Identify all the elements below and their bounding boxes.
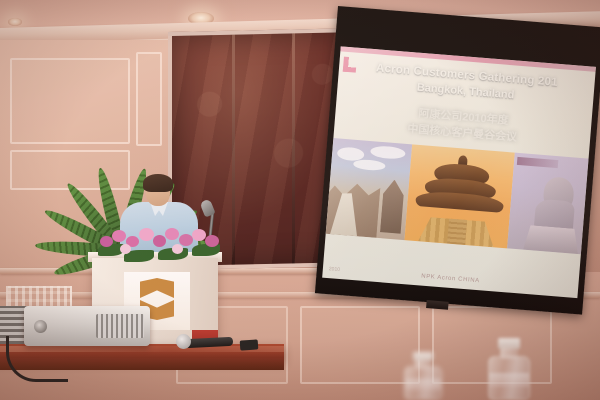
orchid-blossom xyxy=(139,228,154,241)
great-wall-photo xyxy=(326,138,413,240)
slide-photo-strip xyxy=(326,138,589,254)
projector-lens-icon xyxy=(34,320,47,333)
microphone-head-icon xyxy=(176,334,191,349)
orchid-blossom xyxy=(179,234,193,246)
recessed-ceiling-light-secondary xyxy=(8,18,22,26)
water-bottle xyxy=(488,338,530,400)
speaker-hair xyxy=(143,174,173,192)
bottle-body xyxy=(488,356,530,400)
wood-panel-seam xyxy=(232,35,235,265)
photo-caption-badge xyxy=(517,157,559,168)
screen-mount-bracket xyxy=(426,300,449,310)
orchid-blossom xyxy=(172,244,183,254)
watchtower-shape xyxy=(380,179,405,234)
cloud-shape xyxy=(370,145,406,160)
orchid-blossom xyxy=(192,229,206,241)
bottle-body xyxy=(404,366,442,400)
orchid-blossom xyxy=(100,236,113,247)
orchid-blossom xyxy=(112,230,126,242)
temple-stairs-shape xyxy=(447,219,467,245)
wood-panel-seam xyxy=(292,33,295,263)
orchid-blossom xyxy=(205,235,219,247)
projection-screen: Acron Customers Gathering 201 Bangkok, T… xyxy=(314,6,600,323)
floral-arrangement xyxy=(96,226,224,266)
stone-lion-photo xyxy=(507,153,589,255)
shield-logo-icon-top xyxy=(140,278,174,298)
projector-vent xyxy=(96,314,144,338)
cloud-shape xyxy=(353,159,385,171)
bottle-label xyxy=(489,373,529,387)
orchid-blossom xyxy=(165,228,179,240)
bottle-label xyxy=(405,379,441,390)
wall-panel-lower-right xyxy=(300,306,420,384)
orchid-blossom xyxy=(153,235,166,247)
presentation-slide: Acron Customers Gathering 201 Bangkok, T… xyxy=(322,46,596,298)
conference-room-photo: Acron Customers Gathering 201 Bangkok, T… xyxy=(0,0,600,400)
temple-of-heaven-photo xyxy=(405,144,515,248)
water-bottle xyxy=(404,352,442,400)
orchid-blossom xyxy=(120,244,131,254)
remote-device xyxy=(240,339,259,350)
lion-plinth-shape xyxy=(523,225,580,254)
